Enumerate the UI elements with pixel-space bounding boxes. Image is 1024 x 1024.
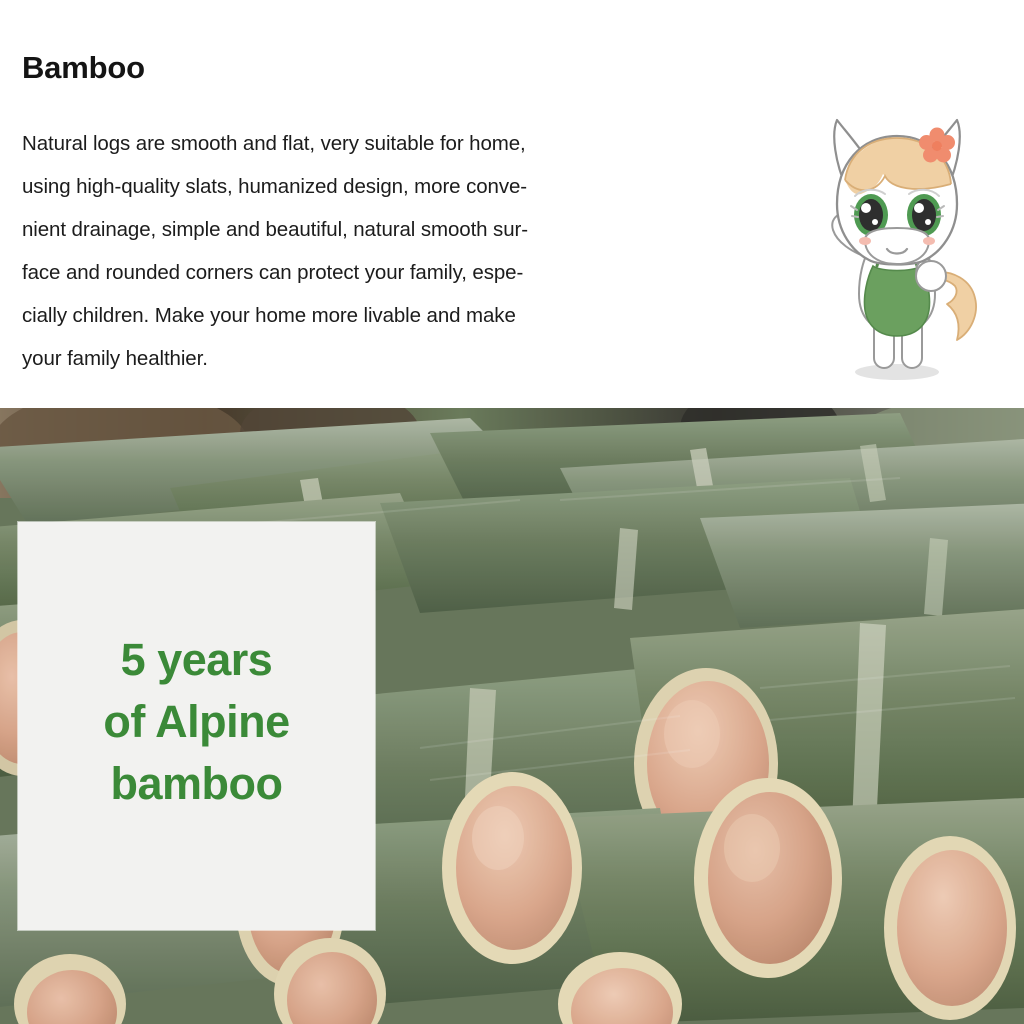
- mascot-illustration: [785, 100, 1010, 390]
- callout-line: 5 years: [103, 629, 289, 691]
- bamboo-photo: 5 years of Alpine bamboo: [0, 408, 1024, 1024]
- callout-line: bamboo: [103, 753, 289, 815]
- callout-line: of Alpine: [103, 691, 289, 753]
- description-line: cially children. Make your home more liv…: [22, 294, 722, 337]
- page-title: Bamboo: [22, 50, 145, 86]
- description-paragraph: Natural logs are smooth and flat, very s…: [22, 122, 722, 380]
- hoof-item: [916, 261, 946, 291]
- callout-card: 5 years of Alpine bamboo: [18, 522, 375, 930]
- description-line: using high-quality slats, humanized desi…: [22, 165, 722, 208]
- description-line: your family healthier.: [22, 337, 722, 380]
- description-line: nient drainage, simple and beautiful, na…: [22, 208, 722, 251]
- product-description-page: Bamboo Natural logs are smooth and flat,…: [0, 0, 1024, 1024]
- description-line: face and rounded corners can protect you…: [22, 251, 722, 294]
- muzzle: [865, 228, 929, 264]
- mascot-shadow: [855, 364, 939, 380]
- blush-left: [859, 237, 871, 245]
- callout-text: 5 years of Alpine bamboo: [103, 629, 289, 823]
- blush-right: [923, 237, 935, 245]
- description-line: Natural logs are smooth and flat, very s…: [22, 122, 722, 165]
- text-section: Bamboo Natural logs are smooth and flat,…: [0, 0, 1024, 408]
